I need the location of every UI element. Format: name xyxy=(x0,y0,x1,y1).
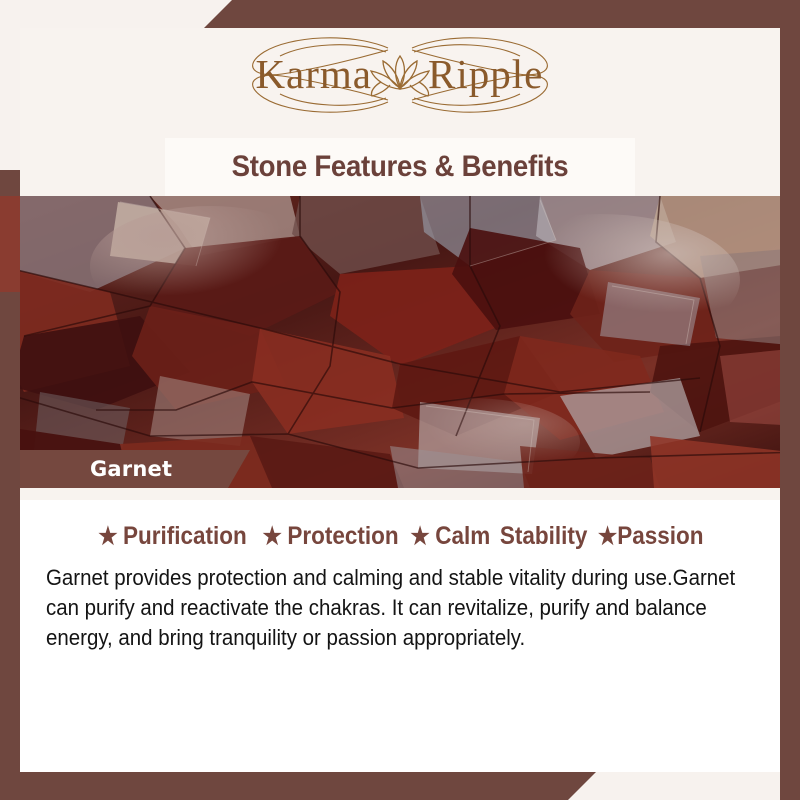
star-icon: ★ xyxy=(99,525,118,549)
star-icon: ★ xyxy=(598,525,617,549)
stone-name-label: Garnet xyxy=(20,457,172,481)
frame-top-bar xyxy=(0,0,800,28)
stone-name-banner: Garnet xyxy=(20,450,250,488)
title-band: Stone Features & Benefits xyxy=(165,138,635,196)
benefit-label: Protection xyxy=(288,522,399,551)
benefit-label: Passion xyxy=(618,522,704,551)
stone-description: Garnet provides protection and calming a… xyxy=(46,563,751,653)
brand-logo-graphic: Karma Ripple xyxy=(220,30,580,120)
benefit-calm: ★ Calm xyxy=(411,522,491,551)
frame-right-bar xyxy=(780,0,800,800)
page-title: Stone Features & Benefits xyxy=(232,150,569,184)
benefit-stability: Stability xyxy=(500,522,588,551)
garnet-photo xyxy=(0,196,800,488)
content-panel: ★ Purification ★ Protection ★ Calm xyxy=(20,500,780,772)
frame-bottom-bar xyxy=(0,772,800,800)
brand-name-left: Karma xyxy=(255,51,372,97)
benefit-purification: ★ Purification xyxy=(99,522,248,551)
star-icon: ★ xyxy=(411,525,430,549)
frame-left-accent xyxy=(0,196,20,292)
brand-logo: Karma Ripple xyxy=(0,30,800,120)
stone-info-card: Karma Ripple Stone Features & Benefits xyxy=(0,0,800,800)
garnet-photo-graphic xyxy=(0,196,800,488)
benefit-label: Calm xyxy=(436,522,491,551)
benefit-label: Purification xyxy=(123,522,247,551)
benefits-row: ★ Purification ★ Protection ★ Calm xyxy=(46,522,754,551)
benefit-passion: ★ Passion xyxy=(598,522,704,551)
lotus-flower-icon xyxy=(371,56,429,96)
benefit-label: Stability xyxy=(500,522,588,551)
benefit-protection: ★ Protection xyxy=(263,522,399,551)
star-icon: ★ xyxy=(263,525,282,549)
brand-name-right: Ripple xyxy=(428,51,543,97)
